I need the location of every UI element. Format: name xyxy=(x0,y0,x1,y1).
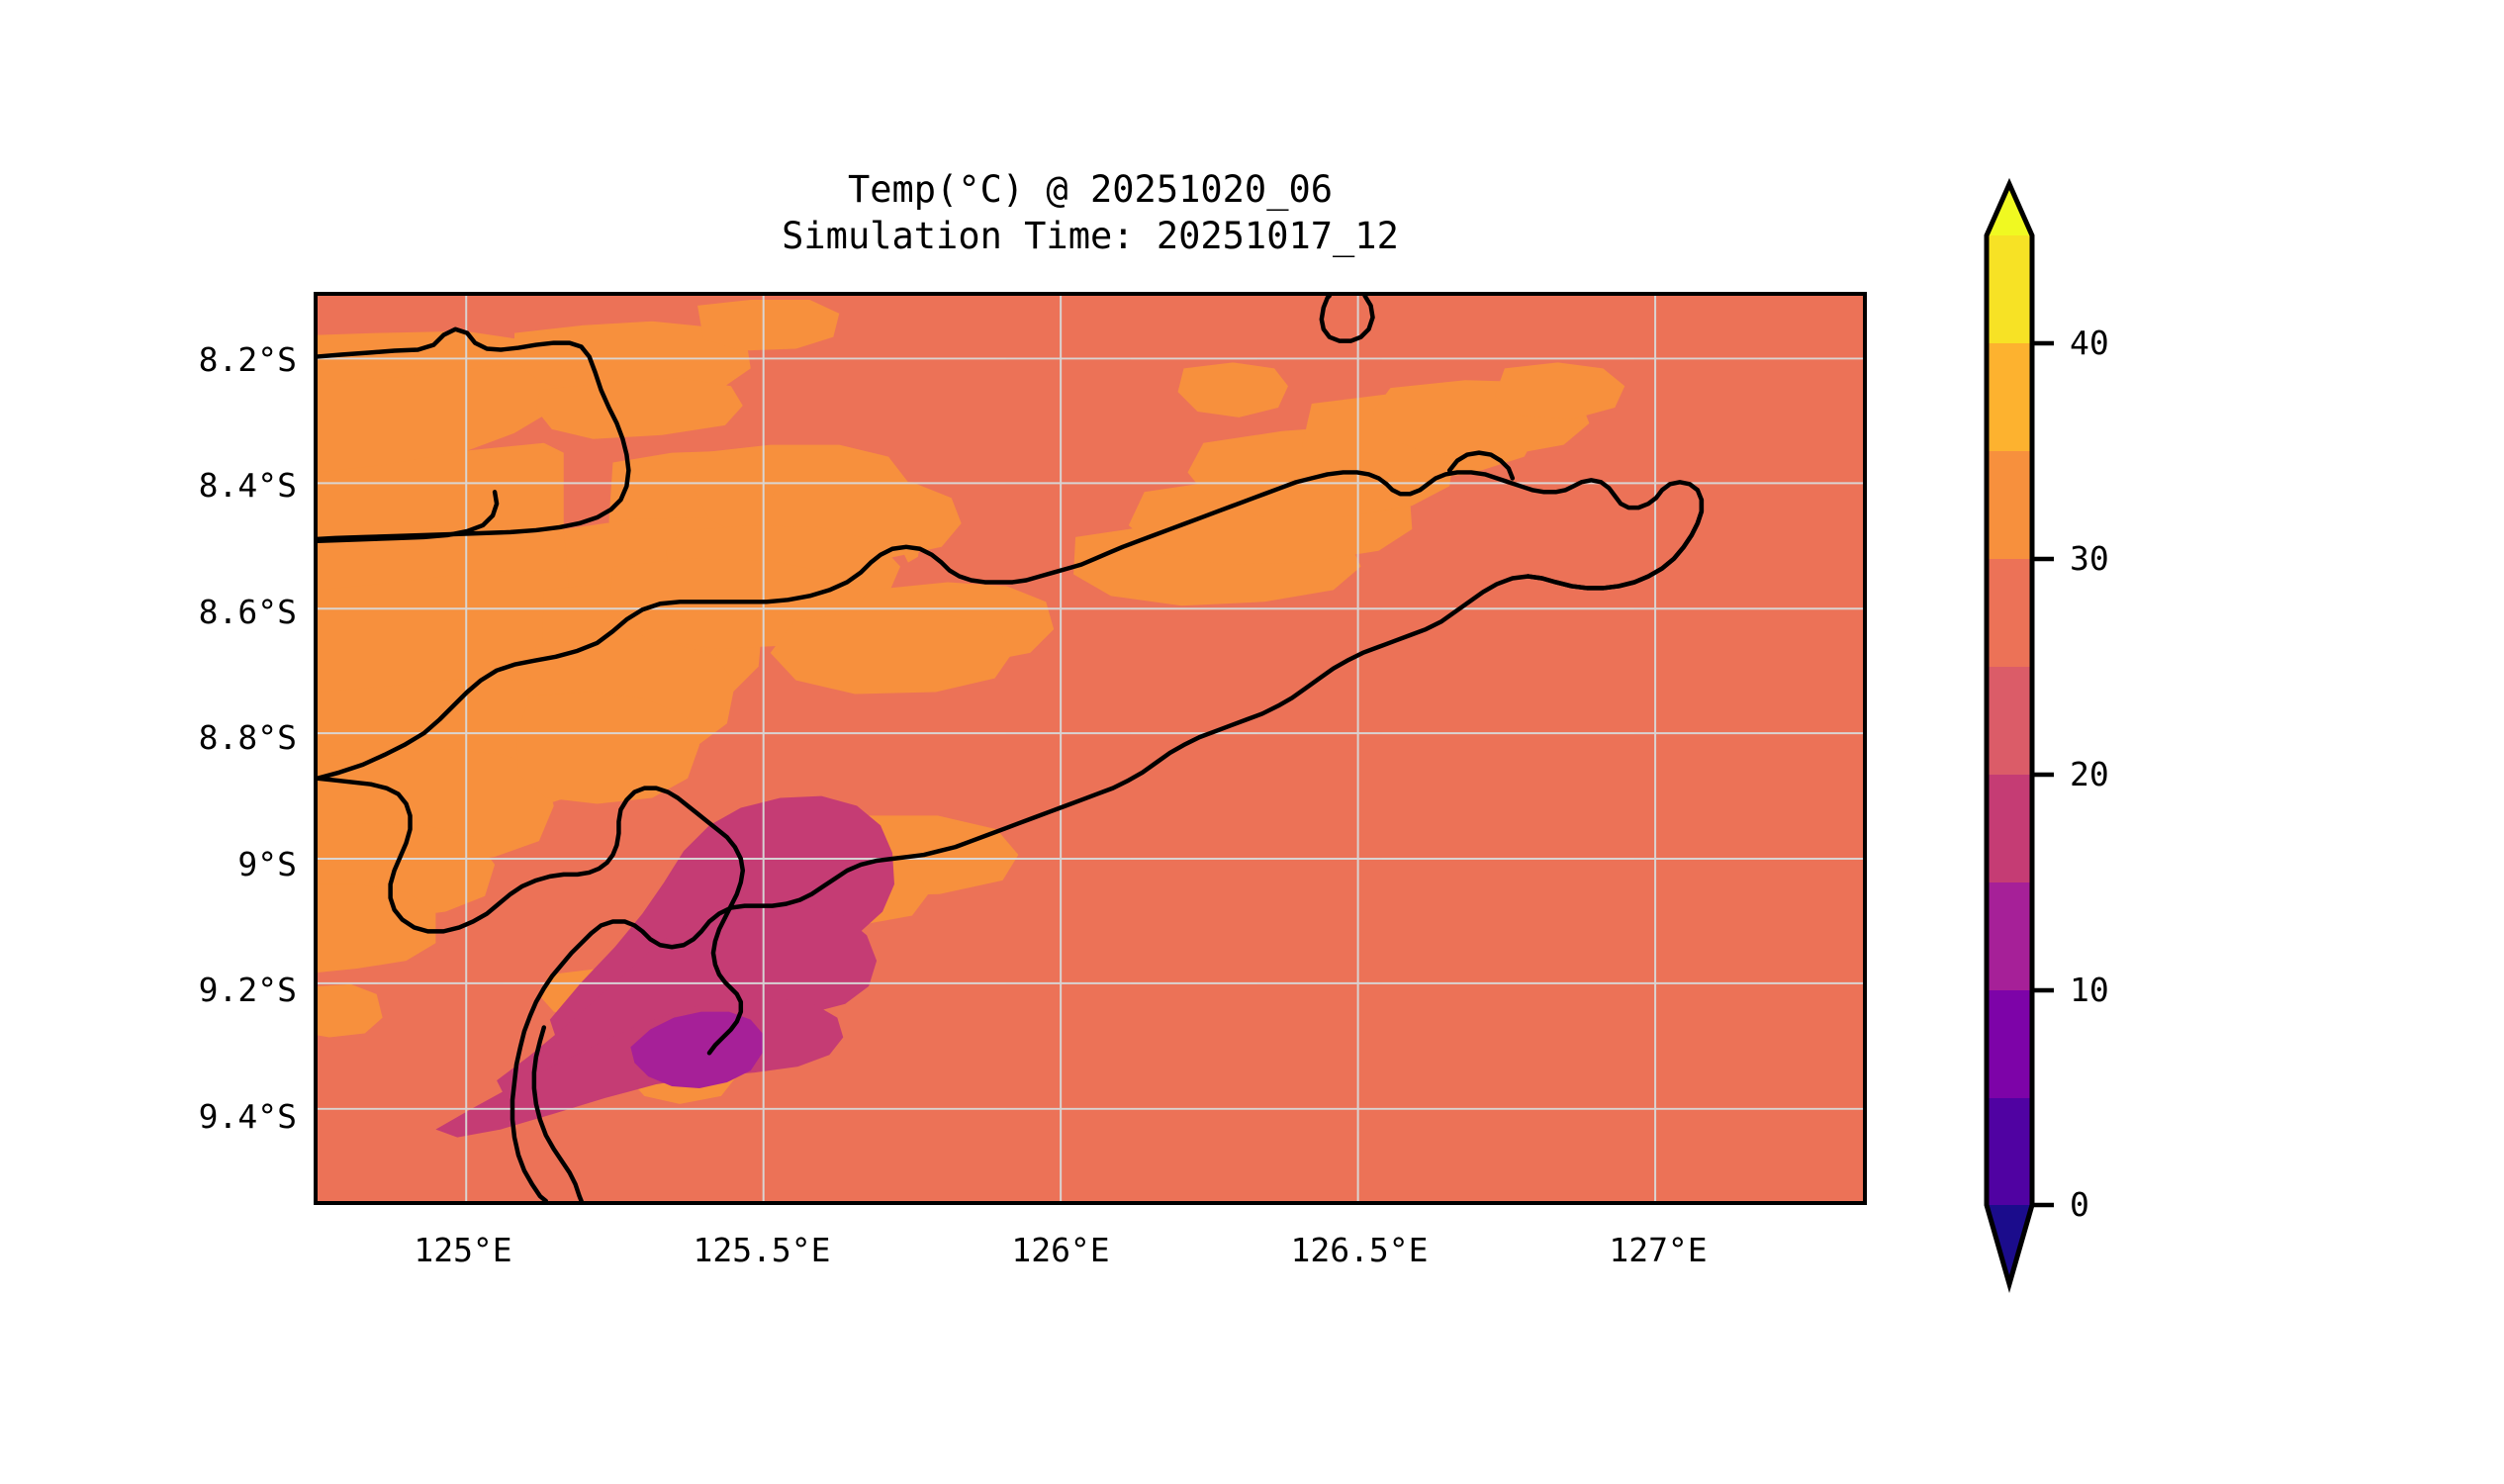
colorbar-tick-label-30: 30 xyxy=(2070,539,2208,578)
colorbar[interactable] xyxy=(1987,176,2038,1342)
colorbar-tick-label-0: 0 xyxy=(2070,1185,2208,1224)
title-line-1: Temp(°C) @ 20251020_06 xyxy=(314,166,1867,213)
figure-canvas: Temp(°C) @ 20251020_06 Simulation Time: … xyxy=(0,0,2504,1484)
xtick-label-0: 125°E xyxy=(315,1231,611,1269)
ytick-label-3: 8.8°S xyxy=(40,718,297,757)
xtick-label-2: 126°E xyxy=(912,1231,1209,1269)
title-line-2: Simulation Time: 20251017_12 xyxy=(314,213,1867,259)
colorbar-gradient xyxy=(1981,176,2044,1342)
colorbar-tick-label-20: 20 xyxy=(2070,755,2208,793)
ytick-label-1: 8.4°S xyxy=(40,466,297,505)
colorbar-tick-label-40: 40 xyxy=(2070,324,2208,362)
temperature-contour-map xyxy=(318,296,1863,1201)
ytick-label-6: 9.4°S xyxy=(40,1097,297,1136)
ytick-label-4: 9°S xyxy=(40,845,297,883)
ytick-label-2: 8.6°S xyxy=(40,593,297,631)
colorbar-tick-label-10: 10 xyxy=(2070,971,2208,1009)
xtick-label-4: 127°E xyxy=(1510,1231,1807,1269)
chart-title: Temp(°C) @ 20251020_06 Simulation Time: … xyxy=(314,166,1867,260)
xtick-label-1: 125.5°E xyxy=(613,1231,910,1269)
ytick-label-0: 8.2°S xyxy=(40,340,297,379)
map-plot-area[interactable] xyxy=(314,292,1867,1205)
xtick-label-3: 126.5°E xyxy=(1211,1231,1508,1269)
ytick-label-5: 9.2°S xyxy=(40,971,297,1009)
